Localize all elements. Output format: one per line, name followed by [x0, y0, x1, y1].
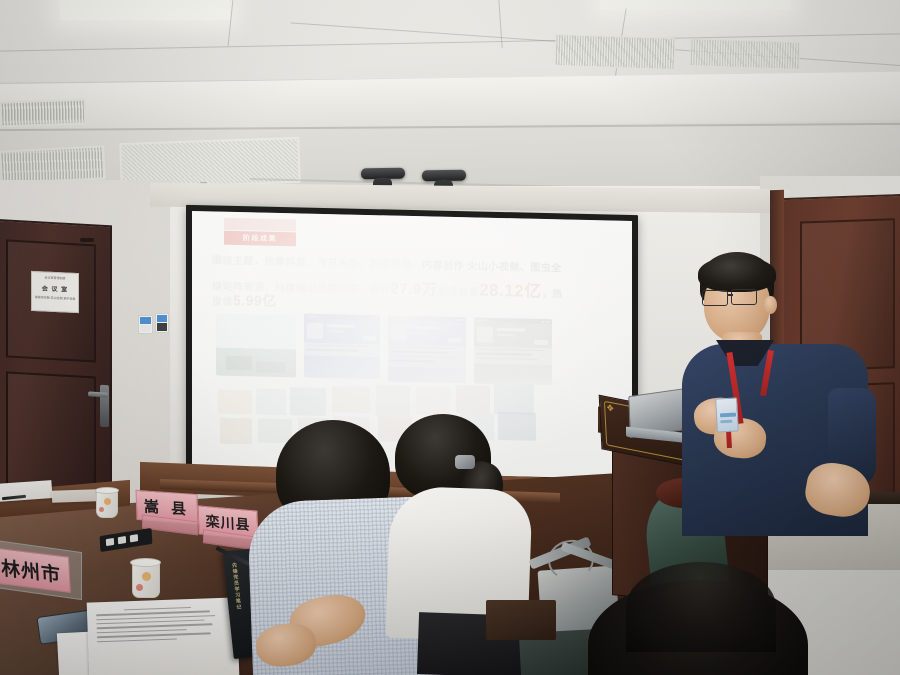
- slide-gallery-item: [258, 419, 292, 444]
- notebook-title-text: 先锋党员学习笔记: [231, 562, 245, 630]
- document-text-lines: [96, 606, 227, 674]
- slide-gallery-item: [256, 388, 286, 415]
- document-main: [87, 597, 240, 675]
- slide-tag-shadow: [224, 218, 296, 232]
- slide-metric-2: 28.12亿: [479, 281, 542, 301]
- air-vent: [690, 38, 801, 70]
- slide-metric-1: 27.9万: [391, 281, 438, 299]
- chair-back: [486, 600, 556, 640]
- slide-gallery-item: [290, 387, 326, 416]
- podium-ornament: ❖: [606, 403, 615, 414]
- slide-image-scenery: [216, 314, 296, 378]
- paper-stack: [52, 489, 96, 503]
- door-notice-footer: 请保持安静 禁止吸烟 爱护设备: [34, 295, 76, 301]
- air-vent: [0, 99, 86, 128]
- slide-gallery-item: [220, 418, 252, 445]
- wall-thermostat-panel[interactable]: [155, 313, 169, 333]
- glasses-bridge: [727, 294, 733, 296]
- air-vent: [554, 34, 675, 70]
- person-foreground-hair: [626, 562, 776, 652]
- door-left[interactable]: [0, 219, 112, 514]
- slide-phone-screenshot-3: 中国移动: [474, 317, 552, 385]
- slide-gallery-item: [332, 386, 370, 413]
- id-badge: [715, 397, 739, 432]
- door-closer: [80, 238, 94, 242]
- hair-clip: [455, 455, 475, 469]
- slide-text-line-3: 度值5.99亿: [212, 289, 277, 310]
- ceiling-light-panel: [600, 0, 790, 10]
- nameplate-linzhou-text: 林州市: [0, 553, 61, 588]
- door-lockplate: [100, 385, 109, 427]
- slide-gallery-item: [498, 412, 536, 441]
- glasses-left-lens: [702, 290, 728, 306]
- slide-gallery-item: [376, 385, 410, 416]
- glasses-right-lens: [731, 289, 757, 305]
- slide-section-tag: 阶段成果: [224, 231, 296, 247]
- slide-gallery-item: [456, 385, 490, 414]
- meeting-room-photo: 会议室管理制度 会 议 室 请保持安静 禁止吸烟 爱护设备 阶段成果 围绕主题，…: [0, 0, 900, 675]
- slide-line1-bold: 内容创作 火山小视频、图虫全: [422, 260, 562, 274]
- ceiling-light-panel: [60, 0, 230, 20]
- slide-line3-prefix: 度值: [212, 296, 233, 307]
- door-notice-title: 会 议 室: [34, 283, 76, 294]
- slide-gallery-item: [218, 390, 252, 415]
- slide-gallery-item: [494, 384, 534, 415]
- slide-phone-screenshot-1: 中国移动: [304, 314, 380, 380]
- door-notice-header: 会议室管理制度: [34, 275, 76, 281]
- slide-line1-dim: 围绕主题，统筹抖音、今日头条、西瓜视频、: [212, 255, 422, 271]
- slide-line2-mid: 总播放量: [437, 287, 479, 299]
- slide-line2-suffix: ，热: [542, 289, 563, 300]
- slide-phone-screenshot-2: 中国移动: [388, 315, 466, 383]
- door-notice-sign: 会议室管理制度 会 议 室 请保持安静 禁止吸烟 爱护设备: [31, 271, 79, 313]
- slide-metric-3: 5.99亿: [233, 292, 277, 309]
- air-vent: [0, 145, 106, 184]
- slide-gallery-item: [416, 386, 450, 415]
- wall-switch-panel[interactable]: [138, 315, 153, 334]
- slide-line2-prefix: 累计: [370, 285, 391, 296]
- nameplate-linzhou-city: 林州市: [0, 552, 82, 604]
